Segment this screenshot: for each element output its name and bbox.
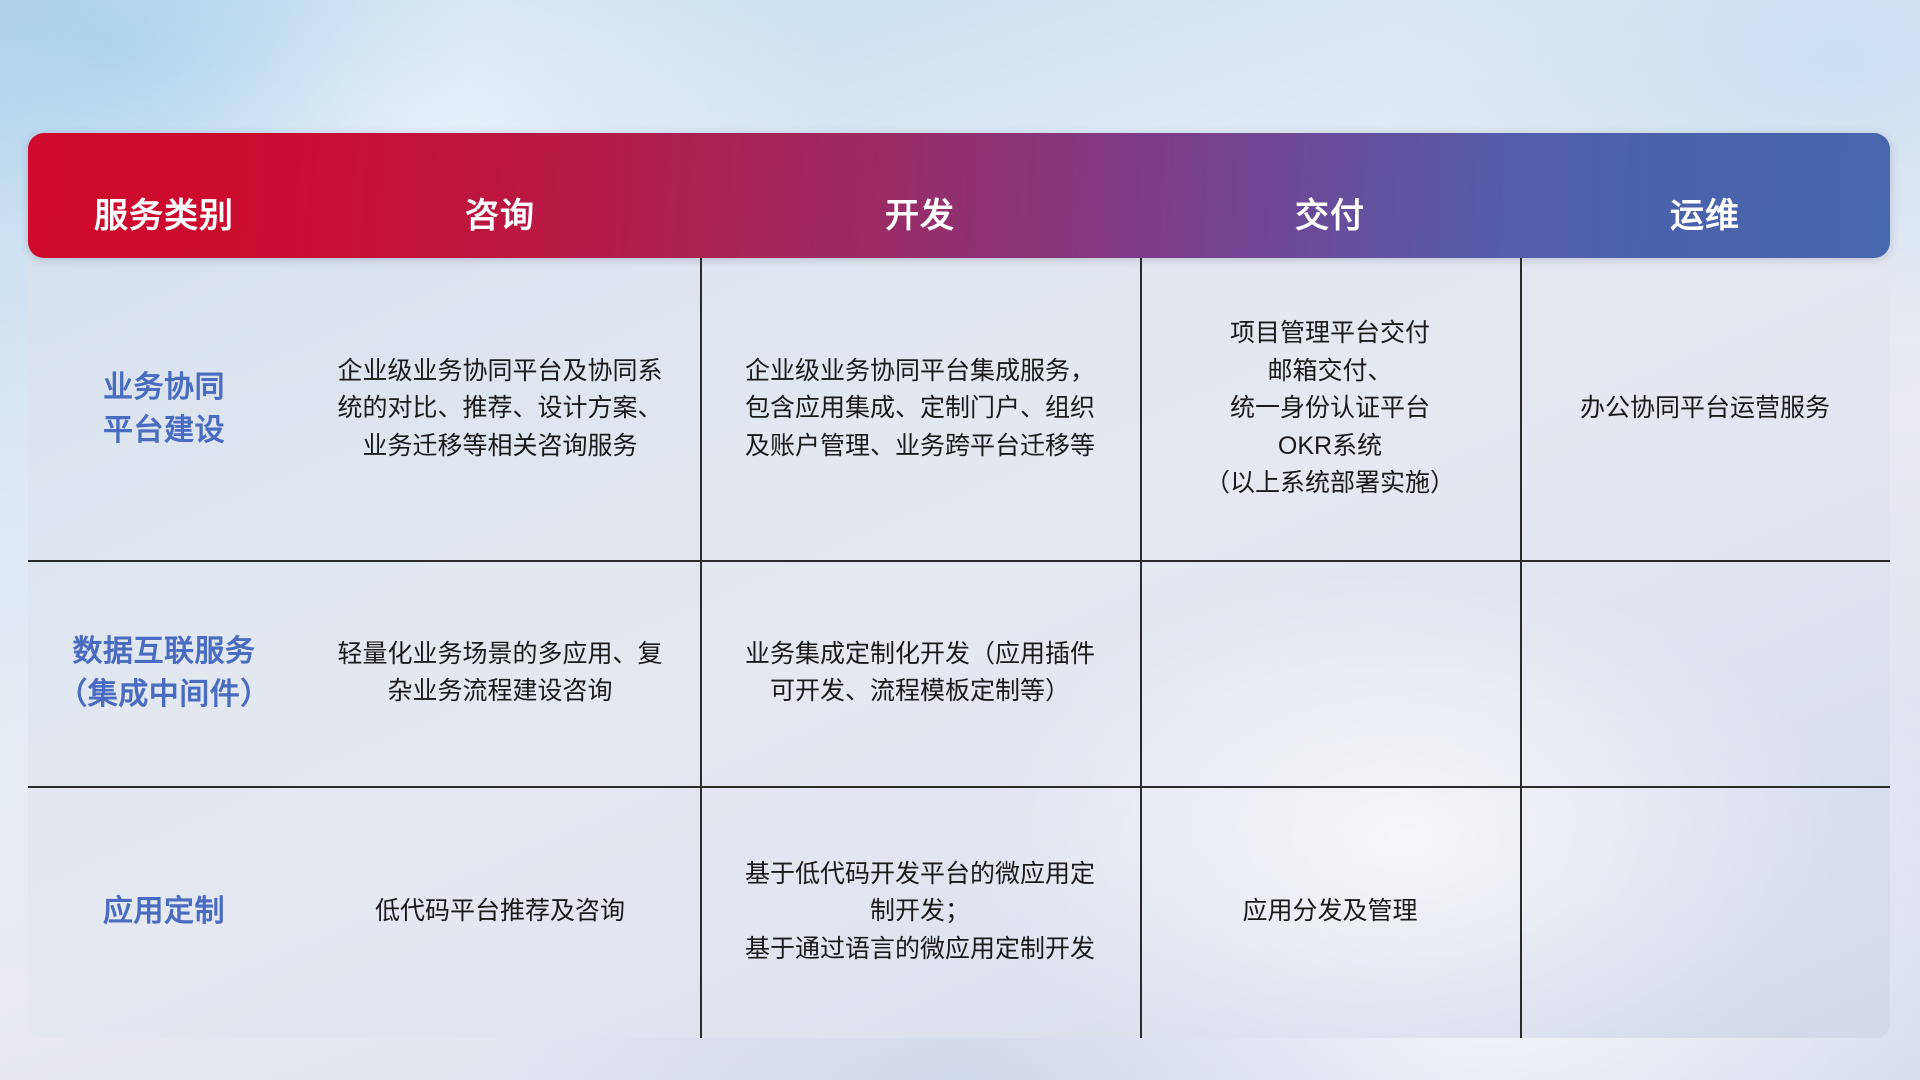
row-label-data-interconnection-service: 数据互联服务 （集成中间件） bbox=[28, 560, 300, 786]
column-header-operations: 运维 bbox=[1520, 133, 1890, 258]
table-header-row: 服务类别 咨询 开发 交付 运维 bbox=[28, 133, 1890, 258]
cell-r1-development: 业务集成定制化开发（应用插件 可开发、流程模板定制等） bbox=[700, 560, 1140, 786]
column-header-consulting: 咨询 bbox=[300, 133, 700, 258]
row-label-business-collaboration-platform: 业务协同 平台建设 bbox=[28, 258, 300, 560]
slide-canvas: 服务类别 咨询 开发 交付 运维 业务协同 平台建设 企业级业务协同平台及协同系… bbox=[0, 0, 1920, 1080]
cell-r0-delivery: 项目管理平台交付 邮箱交付、 统一身份认证平台 OKR系统 （以上系统部署实施） bbox=[1140, 258, 1520, 560]
cell-r1-operations bbox=[1520, 560, 1890, 786]
column-header-development: 开发 bbox=[700, 133, 1140, 258]
row-divider-1 bbox=[28, 560, 1890, 562]
cell-r0-development: 企业级业务协同平台集成服务， 包含应用集成、定制门户、组织 及账户管理、业务跨平… bbox=[700, 258, 1140, 560]
cell-r1-consulting: 轻量化业务场景的多应用、复 杂业务流程建设咨询 bbox=[300, 560, 700, 786]
table-row: 数据互联服务 （集成中间件） 轻量化业务场景的多应用、复 杂业务流程建设咨询 业… bbox=[28, 560, 1890, 786]
column-header-delivery: 交付 bbox=[1140, 133, 1520, 258]
cell-r1-delivery bbox=[1140, 560, 1520, 786]
table-row: 应用定制 低代码平台推荐及咨询 基于低代码开发平台的微应用定 制开发； 基于通过… bbox=[28, 786, 1890, 1038]
row-label-application-customization: 应用定制 bbox=[28, 786, 300, 1038]
cell-r2-consulting: 低代码平台推荐及咨询 bbox=[300, 786, 700, 1038]
row-divider-2 bbox=[28, 786, 1890, 788]
column-divider-2 bbox=[1140, 258, 1142, 1038]
column-header-service-category: 服务类别 bbox=[28, 133, 300, 258]
cell-r2-operations bbox=[1520, 786, 1890, 1038]
column-divider-3 bbox=[1520, 258, 1522, 1038]
cell-r0-operations: 办公协同平台运营服务 bbox=[1520, 258, 1890, 560]
cell-r2-delivery: 应用分发及管理 bbox=[1140, 786, 1520, 1038]
cell-r0-consulting: 企业级业务协同平台及协同系 统的对比、推荐、设计方案、 业务迁移等相关咨询服务 bbox=[300, 258, 700, 560]
cell-r2-development: 基于低代码开发平台的微应用定 制开发； 基于通过语言的微应用定制开发 bbox=[700, 786, 1140, 1038]
table-body: 业务协同 平台建设 企业级业务协同平台及协同系 统的对比、推荐、设计方案、 业务… bbox=[28, 258, 1890, 1038]
column-divider-1 bbox=[700, 258, 702, 1038]
table-row: 业务协同 平台建设 企业级业务协同平台及协同系 统的对比、推荐、设计方案、 业务… bbox=[28, 258, 1890, 560]
service-matrix-table: 服务类别 咨询 开发 交付 运维 业务协同 平台建设 企业级业务协同平台及协同系… bbox=[28, 133, 1890, 1038]
